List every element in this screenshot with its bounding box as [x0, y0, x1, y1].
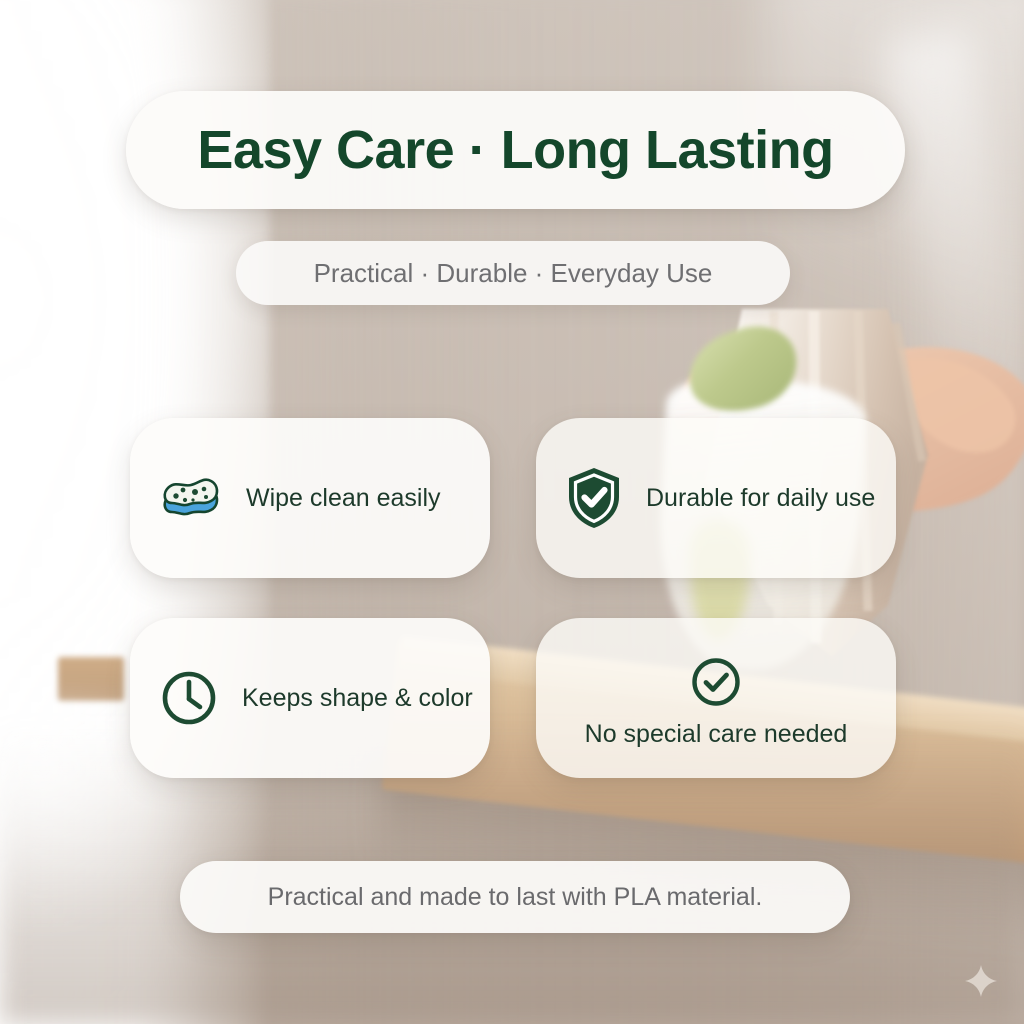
clock-icon — [160, 669, 218, 727]
feature-label-keeps-shape: Keeps shape & color — [242, 684, 473, 713]
feature-card-keeps-shape[interactable]: Keeps shape & color — [130, 618, 490, 778]
subtitle-card: Practical · Durable · Everyday Use — [236, 241, 790, 305]
footer-text: Practical and made to last with PLA mate… — [268, 883, 763, 912]
sparkle-icon — [964, 964, 998, 998]
feature-card-durable[interactable]: Durable for daily use — [536, 418, 896, 578]
feature-label-wipe-clean: Wipe clean easily — [246, 484, 441, 513]
wooden-shelf-stub — [58, 657, 124, 701]
sponge-icon — [160, 473, 222, 523]
feature-card-wipe-clean[interactable]: Wipe clean easily — [130, 418, 490, 578]
page-subtitle: Practical · Durable · Everyday Use — [314, 258, 713, 289]
page-title: Easy Care · Long Lasting — [197, 119, 833, 181]
poster-canvas: Easy Care · Long Lasting Practical · Dur… — [0, 0, 1024, 1024]
shield-check-icon — [566, 466, 622, 530]
check-circle-icon — [690, 656, 742, 708]
feature-card-no-special-care[interactable]: No special care needed — [536, 618, 896, 778]
footer-card: Practical and made to last with PLA mate… — [180, 861, 850, 933]
title-card: Easy Care · Long Lasting — [126, 91, 905, 209]
feature-label-no-special-care: No special care needed — [585, 720, 848, 749]
feature-label-durable: Durable for daily use — [646, 484, 875, 513]
